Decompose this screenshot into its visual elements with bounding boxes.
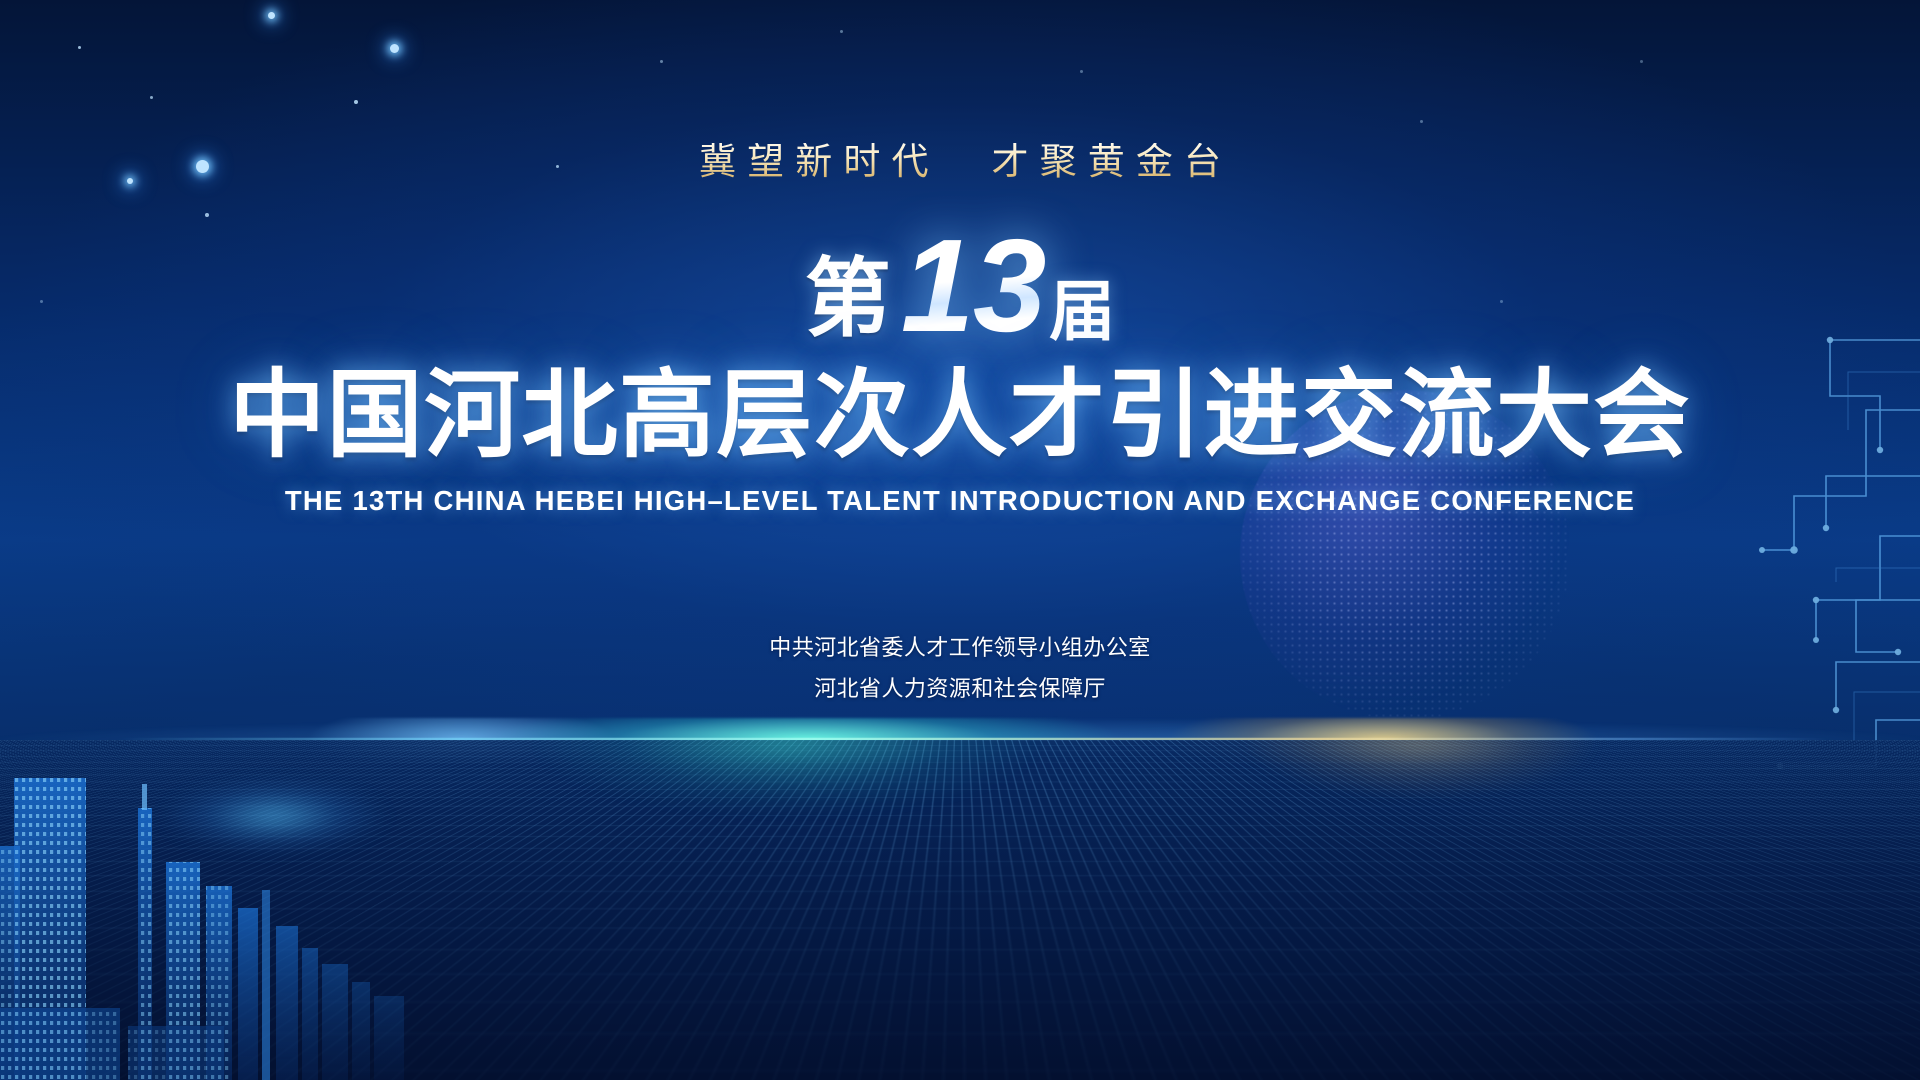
poster-tagline: 冀望新时代才聚黄金台: [0, 143, 1920, 180]
organizer-line-1: 中共河北省委人才工作领导小组办公室: [0, 628, 1920, 669]
edition-heading: 第 13 届: [0, 228, 1920, 346]
page-subtitle: THE 13TH CHINA HEBEI HIGH–LEVEL TALENT I…: [0, 485, 1920, 517]
star: [205, 213, 209, 217]
star: [390, 44, 399, 53]
star: [1420, 120, 1423, 123]
star: [150, 96, 153, 99]
tagline-left: 冀望新时代: [699, 141, 940, 182]
organizer-block: 中共河北省委人才工作领导小组办公室 河北省人力资源和社会保障厅: [0, 628, 1920, 709]
star: [354, 100, 358, 104]
page-title: 中国河北高层次人才引进交流大会: [0, 368, 1920, 464]
star: [840, 30, 843, 33]
tagline-right: 才聚黄金台: [992, 141, 1233, 182]
city-skyline-icon: [0, 750, 520, 1080]
amber-glow: [1190, 740, 1651, 852]
star: [660, 60, 663, 63]
star: [268, 12, 275, 19]
organizer-line-2: 河北省人力资源和社会保障厅: [0, 669, 1920, 710]
conference-poster: 冀望新时代才聚黄金台 第 13 届 中国河北高层次人才引进交流大会 THE 13…: [0, 0, 1920, 1080]
star: [1640, 60, 1643, 63]
edition-prefix: 第: [805, 256, 891, 342]
edition-suffix: 届: [1049, 278, 1115, 344]
star: [78, 46, 81, 49]
star: [1080, 70, 1083, 73]
teal-glow: [461, 740, 1114, 880]
edition-number: 13: [901, 225, 1045, 346]
